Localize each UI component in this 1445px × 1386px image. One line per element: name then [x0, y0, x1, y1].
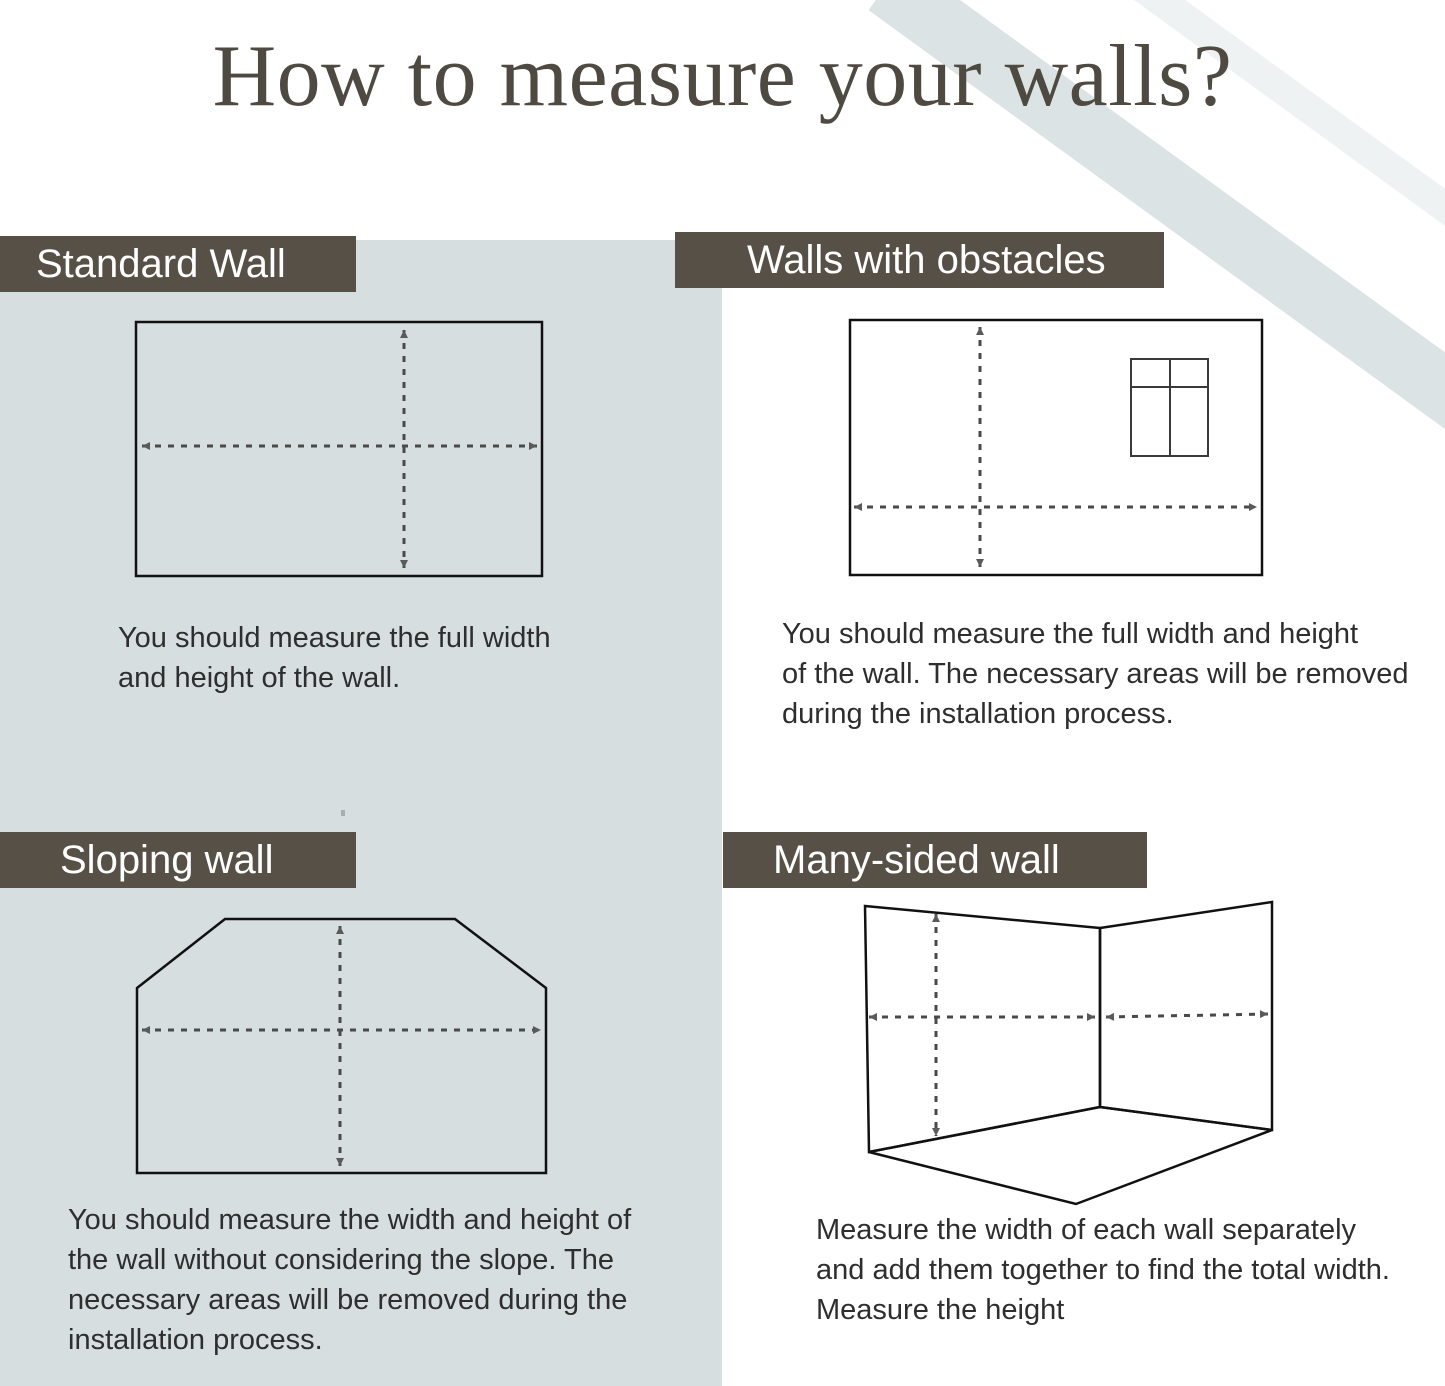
floor-outline: [869, 1107, 1272, 1204]
diagram-walls-with-obstacles: [820, 295, 1300, 595]
dust-speck: [341, 810, 345, 816]
window-icon: [1131, 359, 1208, 456]
caption-walls-with-obstacles: You should measure the full width and he…: [782, 614, 1422, 734]
caption-many-sided-wall: Measure the width of each wall separatel…: [816, 1210, 1436, 1330]
wall-outline: [136, 322, 542, 576]
section-header-many-sided-wall: Many-sided wall: [723, 832, 1147, 888]
section-header-standard-wall: Standard Wall: [0, 236, 356, 292]
diagram-many-sided-wall: [840, 890, 1310, 1220]
section-header-walls-with-obstacles: Walls with obstacles: [675, 232, 1164, 288]
caption-sloping-wall: You should measure the width and height …: [68, 1200, 668, 1360]
diagram-sloping-wall: [110, 890, 600, 1200]
page-title: How to measure your walls?: [0, 28, 1445, 127]
caption-standard-wall: You should measure the full width and he…: [118, 618, 678, 698]
right-wall-width-arrow: [1106, 1014, 1268, 1017]
infographic-page: How to measure your walls? Standard Wall…: [0, 0, 1445, 1386]
diagram-standard-wall: [110, 300, 590, 600]
section-header-sloping-wall: Sloping wall: [0, 832, 356, 888]
